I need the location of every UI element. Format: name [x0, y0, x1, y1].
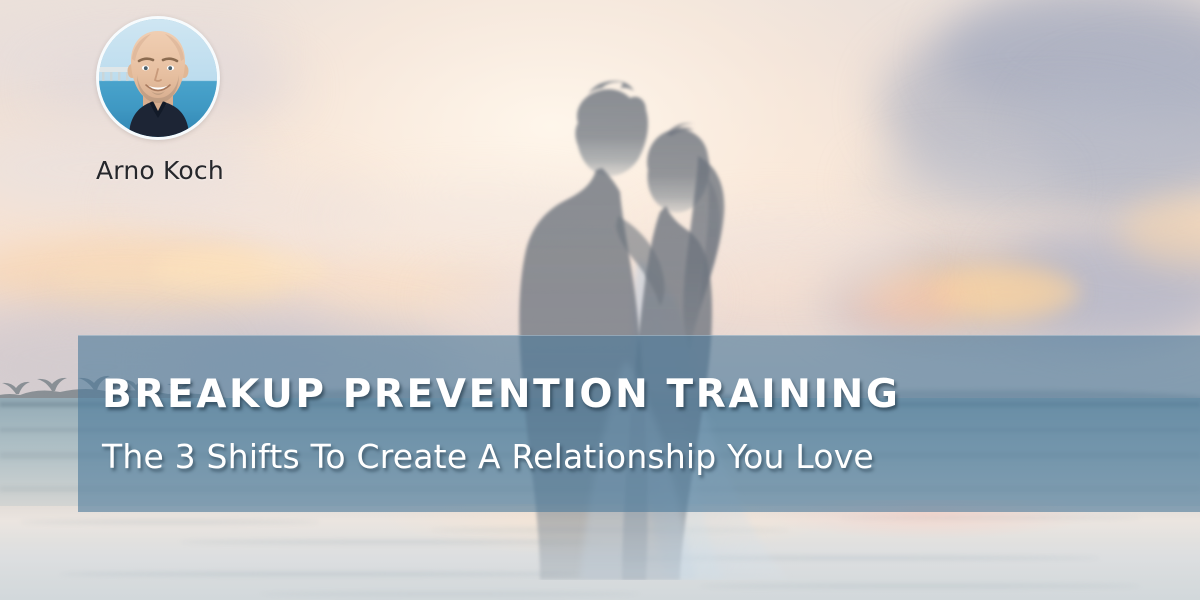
shoreline-foreground — [0, 506, 1200, 600]
page-title: BREAKUP PREVENTION TRAINING — [102, 375, 1200, 414]
title-banner: BREAKUP PREVENTION TRAINING The 3 Shifts… — [78, 335, 1200, 512]
presenter-block: Arno Koch — [96, 16, 326, 185]
avatar — [96, 16, 220, 140]
event-banner-poster: BREAKUP PREVENTION TRAINING The 3 Shifts… — [0, 0, 1200, 600]
page-subtitle: The 3 Shifts To Create A Relationship Yo… — [102, 440, 1200, 473]
presenter-name: Arno Koch — [96, 156, 326, 185]
